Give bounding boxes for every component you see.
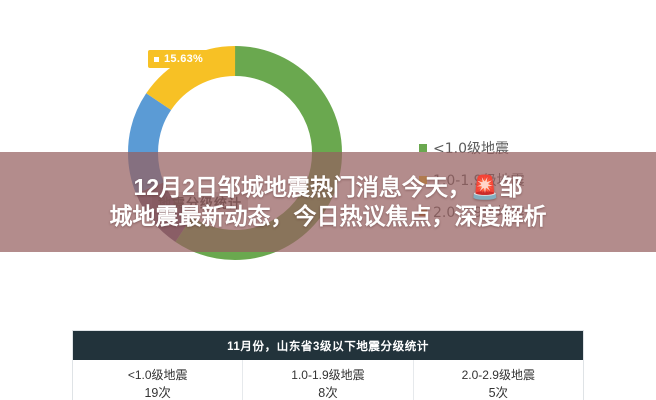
caption-line-1: 12月2日邹城地震热门消息今天，🚨邹: [133, 174, 522, 201]
table-cell-1-19: 1.0-1.9级地震 8次: [243, 360, 413, 400]
data-label-marker-icon: [154, 57, 159, 62]
table-cell-value: 19次: [73, 384, 242, 400]
caption-line-2: 城地震最新动态，今日热议焦点，深度解析: [110, 203, 547, 230]
table-cell-lt1: <1.0级地震 19次: [73, 360, 243, 400]
donut-data-label: 15.63%: [148, 50, 210, 68]
table-cell-2-29: 2.0-2.9级地震 5次: [414, 360, 583, 400]
screenshot-root: 15.63% 地震分级统计 <1.0级地震 1.0-1.9级地震 2.0-2.9…: [0, 0, 656, 400]
table-cell-value: 8次: [243, 384, 412, 400]
table-header: 11月份，山东省3级以下地震分级统计: [73, 331, 583, 360]
caption-overlay: 12月2日邹城地震热门消息今天，🚨邹 城地震最新动态，今日热议焦点，深度解析: [0, 152, 656, 252]
legend-swatch-icon: [419, 144, 427, 152]
statistics-table: 11月份，山东省3级以下地震分级统计 <1.0级地震 19次 1.0-1.9级地…: [72, 330, 584, 400]
table-row: <1.0级地震 19次 1.0-1.9级地震 8次 2.0-2.9级地震 5次: [73, 360, 583, 400]
table-cell-label: 2.0-2.9级地震: [414, 366, 583, 384]
data-label-text: 15.63%: [164, 53, 203, 65]
table-cell-value: 5次: [414, 384, 583, 400]
table-cell-label: <1.0级地震: [73, 366, 242, 384]
table-cell-label: 1.0-1.9级地震: [243, 366, 412, 384]
